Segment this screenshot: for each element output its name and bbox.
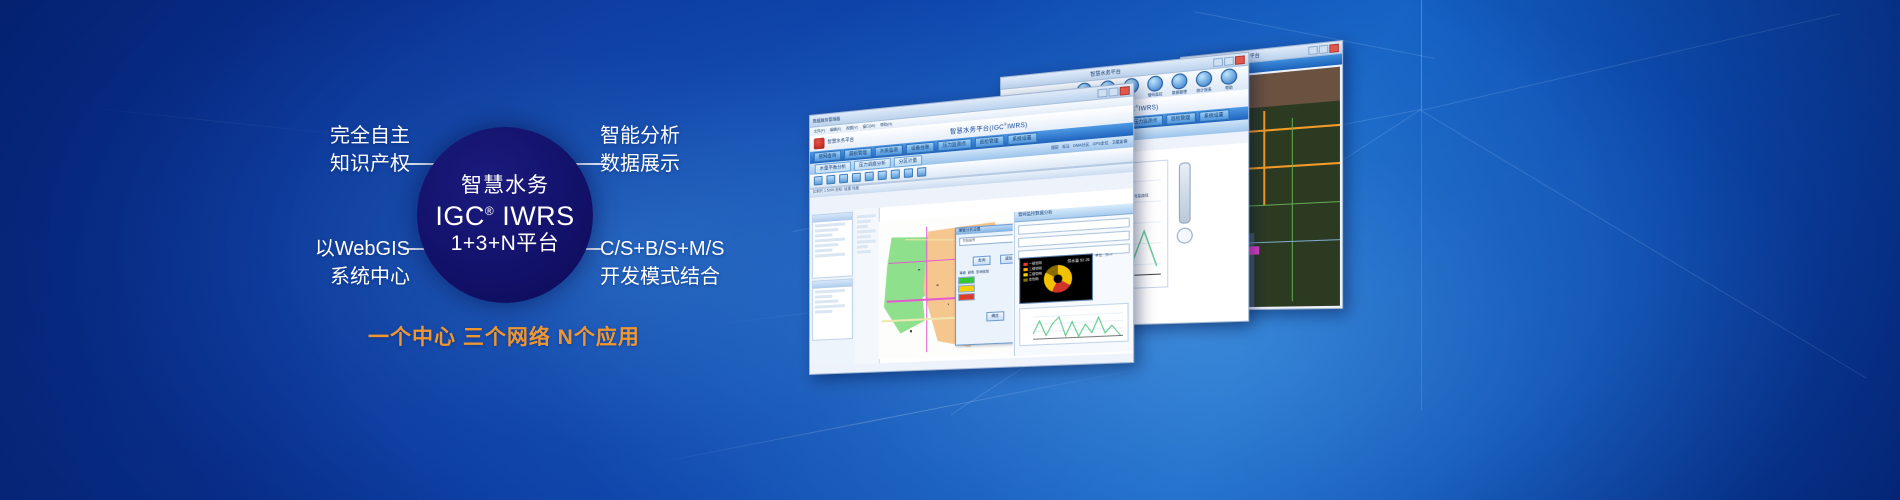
tree-row[interactable] bbox=[857, 245, 868, 249]
feature-bottom-right-line2: 开发模式结合 bbox=[600, 263, 725, 291]
window-front-controls[interactable] bbox=[1097, 85, 1129, 97]
attribute-row bbox=[815, 310, 833, 314]
light-streak-1 bbox=[645, 365, 1156, 465]
toolbar-right-labels[interactable]: 标注 bbox=[1062, 144, 1070, 150]
monitoring-panel[interactable]: 管网监控数据分析 供水量 52.25 一级管网 二级管网 三级管网 支管网 bbox=[1014, 203, 1133, 356]
chart-caption: 流量曲线 bbox=[1134, 193, 1149, 199]
registered-mark-icon: ® bbox=[485, 204, 494, 218]
select-tool-icon[interactable] bbox=[852, 173, 861, 183]
tree-row[interactable] bbox=[857, 219, 871, 223]
maximize-icon bbox=[1109, 87, 1119, 97]
tree-row[interactable] bbox=[857, 235, 871, 239]
minimize-icon bbox=[1213, 57, 1223, 66]
legend-label: 二级管网 bbox=[1029, 266, 1042, 271]
grid-line-vertical bbox=[1421, 0, 1422, 110]
hdr-tail: IWRS) bbox=[1007, 122, 1027, 130]
attribute-row bbox=[815, 299, 838, 303]
toolbar-right-layers[interactable]: 图层 bbox=[1051, 145, 1059, 151]
attribute-row bbox=[815, 295, 833, 299]
tree-row[interactable] bbox=[857, 214, 876, 218]
supply-gauge-widget: 供水量 52.25 一级管网 二级管网 三级管网 支管网 bbox=[1019, 253, 1093, 304]
legend-swatch bbox=[1023, 262, 1027, 265]
legend-label: 三级管网 bbox=[1029, 271, 1042, 276]
gauge-legend-item: 支管网 bbox=[1023, 277, 1041, 282]
layer-row[interactable] bbox=[815, 253, 845, 258]
pie-gauge-icon bbox=[1044, 264, 1072, 293]
feature-top-right: 智能分析 数据展示 bbox=[600, 122, 680, 179]
feature-top-left-line1: 完全自主 bbox=[300, 122, 410, 150]
layer-row[interactable] bbox=[815, 222, 845, 227]
legend-swatch bbox=[1023, 273, 1027, 276]
layer-row[interactable] bbox=[815, 233, 833, 237]
minimize-icon bbox=[1097, 88, 1107, 98]
dialog-input-label: 管段编号 bbox=[963, 238, 976, 243]
legend-swatch bbox=[1023, 278, 1027, 281]
feature-top-left-line2: 知识产权 bbox=[300, 150, 410, 178]
os-menu-file[interactable]: 文件(F) bbox=[814, 128, 825, 134]
layer-row[interactable] bbox=[815, 248, 833, 252]
legend-label: 支管网 bbox=[1029, 277, 1039, 282]
layer-list-box[interactable] bbox=[812, 212, 853, 279]
layer-row[interactable] bbox=[815, 228, 838, 233]
tree-row[interactable] bbox=[857, 229, 876, 233]
hdr-tail: IWRS) bbox=[1139, 104, 1159, 112]
dialog-query-button[interactable]: 查询 bbox=[973, 255, 991, 265]
map-node bbox=[918, 269, 920, 271]
circle-line-2: IGC® IWRS bbox=[435, 201, 574, 231]
layer-list-header bbox=[813, 213, 852, 223]
monitor-icon bbox=[1147, 75, 1163, 92]
attribute-box[interactable] bbox=[812, 278, 853, 341]
grid-line-diagonal-1 bbox=[1421, 13, 1840, 111]
maximize-icon bbox=[1319, 44, 1328, 53]
company-logo-icon bbox=[814, 137, 825, 149]
screenshot-stack: 智慧水务平台 智慧水务平台 bbox=[795, 55, 1325, 375]
feature-bottom-left: 以WebGIS 系统中心 bbox=[292, 235, 410, 292]
pipe-main-v1 bbox=[926, 227, 927, 352]
ribbon-label: 帮助 bbox=[1225, 85, 1233, 91]
feature-top-right-line1: 智能分析 bbox=[600, 122, 680, 150]
tree-panel[interactable] bbox=[855, 208, 880, 365]
window-front-body: 爆管分析设置 管段编号 查询 清除 等级 颜色 影响范围 bbox=[810, 188, 1133, 366]
trend-spark-chart bbox=[1019, 303, 1128, 346]
grid-line-vertical-2 bbox=[1421, 110, 1422, 410]
measure-tool-icon[interactable] bbox=[865, 171, 874, 181]
layers-panel[interactable] bbox=[810, 209, 856, 366]
feature-bottom-right: C/S+B/S+M/S 开发模式结合 bbox=[600, 235, 725, 292]
layer-row[interactable] bbox=[815, 237, 845, 242]
swatch-green bbox=[959, 276, 976, 284]
circle-brand-igc: IGC bbox=[435, 201, 485, 231]
gauge-unit-label: 单位：万m³ bbox=[1095, 252, 1112, 257]
sat-road-v2 bbox=[1263, 111, 1265, 204]
toolbar-right-dma[interactable]: DMA分区 bbox=[1073, 142, 1089, 149]
attribute-row bbox=[815, 304, 845, 309]
hdr-main: 智慧水务平台(IGC bbox=[950, 124, 1004, 135]
tagline: 一个中心 三个网络 N个应用 bbox=[368, 321, 640, 351]
data-icon bbox=[1171, 72, 1187, 89]
os-menu-edit[interactable]: 编辑(E) bbox=[830, 126, 841, 132]
os-menu-view[interactable]: 视图(V) bbox=[846, 125, 858, 131]
dialog-confirm-button[interactable]: 确定 bbox=[986, 311, 1004, 321]
zoom-in-tool-icon[interactable] bbox=[826, 175, 835, 185]
tree-row[interactable] bbox=[857, 239, 876, 243]
window-front-title: 数据服务管理器 bbox=[813, 115, 840, 124]
window-front[interactable]: 数据服务管理器 文件(F) 编辑(E) 视图(V) 窗口(W) 帮助(H) 智慧… bbox=[809, 82, 1134, 375]
os-menu-help[interactable]: 帮助(H) bbox=[880, 121, 892, 127]
pan-compass-icon[interactable] bbox=[1177, 227, 1193, 244]
circle-line-1: 智慧水务 bbox=[461, 174, 549, 198]
gis-map-canvas[interactable]: 爆管分析设置 管段编号 查询 清除 等级 颜色 影响范围 bbox=[879, 212, 1013, 359]
spark-svg bbox=[1022, 306, 1125, 343]
attribute-row bbox=[815, 289, 845, 294]
minimize-icon bbox=[1308, 45, 1317, 54]
feature-bottom-left-line1: 以WebGIS bbox=[292, 235, 410, 263]
pan-tool-icon[interactable] bbox=[814, 176, 823, 186]
attribute-header bbox=[813, 279, 852, 288]
gauge-title: 供水量 52.25 bbox=[1067, 258, 1089, 265]
th-color: 颜色 bbox=[968, 270, 974, 275]
ribbon-button[interactable]: 管网监控 bbox=[1147, 75, 1163, 98]
close-icon bbox=[1235, 55, 1245, 65]
feature-bottom-left-line2: 系统中心 bbox=[292, 263, 410, 291]
feature-bottom-right-line1: C/S+B/S+M/S bbox=[600, 235, 725, 263]
print-tool-icon[interactable] bbox=[891, 169, 900, 179]
map-node bbox=[910, 330, 912, 332]
center-circle-badge: 智慧水务 IGC® IWRS 1+3+N平台 bbox=[417, 127, 593, 303]
th-level: 等级 bbox=[960, 270, 966, 275]
sat-road-green-2 bbox=[1292, 118, 1294, 301]
toolbar-right-gps[interactable]: GPS定位 bbox=[1093, 141, 1109, 148]
burst-analysis-dialog[interactable]: 爆管分析设置 管段编号 查询 清除 等级 颜色 影响范围 bbox=[955, 222, 1012, 346]
dialog-titlebar[interactable]: 爆管分析设置 bbox=[956, 223, 1012, 235]
refresh-tool-icon[interactable] bbox=[917, 167, 926, 177]
ribbon-button[interactable]: 统计报表 bbox=[1196, 70, 1212, 94]
swatch-red bbox=[959, 293, 976, 301]
grid-line-diagonal-3 bbox=[1420, 110, 1866, 379]
vertical-slider[interactable] bbox=[1179, 162, 1191, 224]
circle-brand-iwrs: IWRS bbox=[502, 201, 575, 231]
logo-text: 智慧水务平台 bbox=[827, 137, 853, 145]
os-menu-window[interactable]: 窗口(W) bbox=[863, 123, 876, 129]
logo-text-line1: 智慧水务平台 bbox=[827, 137, 853, 145]
zoom-out-tool-icon[interactable] bbox=[839, 174, 848, 184]
legend-label: 一级管网 bbox=[1029, 261, 1042, 266]
window-controls[interactable] bbox=[1308, 43, 1339, 55]
maximize-icon bbox=[1224, 56, 1234, 66]
ribbon-button[interactable]: 帮助 bbox=[1221, 67, 1237, 91]
dialog-input-pipe-id[interactable]: 管段编号 bbox=[960, 233, 1013, 246]
map-node bbox=[937, 284, 939, 286]
hero-banner: /*fix first connector class*/ 完全自主 知识产权 … bbox=[0, 0, 1900, 500]
window-mid-controls[interactable] bbox=[1213, 55, 1245, 67]
feature-top-right-line2: 数据展示 bbox=[600, 150, 680, 178]
close-icon bbox=[1329, 43, 1339, 52]
tree-row[interactable] bbox=[857, 225, 868, 229]
map-node bbox=[947, 303, 949, 305]
help-icon bbox=[1221, 67, 1237, 85]
circle-line-3: 1+3+N平台 bbox=[451, 232, 560, 256]
report-icon bbox=[1196, 70, 1212, 87]
dialog-clear-button[interactable]: 清除 bbox=[1000, 254, 1013, 265]
ribbon-button[interactable]: 数据管理 bbox=[1171, 72, 1187, 96]
toolbar-right-imagery[interactable]: 卫星影像 bbox=[1112, 139, 1128, 146]
export-tool-icon[interactable] bbox=[904, 168, 913, 178]
identify-tool-icon[interactable] bbox=[878, 170, 887, 180]
feature-top-left: 完全自主 知识产权 bbox=[300, 122, 410, 179]
legend-swatch bbox=[1023, 267, 1027, 270]
tree-row[interactable] bbox=[857, 250, 871, 254]
swatch-yellow bbox=[959, 284, 976, 292]
layer-row[interactable] bbox=[815, 243, 838, 248]
th-range: 影响范围 bbox=[976, 269, 989, 274]
close-icon bbox=[1120, 85, 1130, 95]
